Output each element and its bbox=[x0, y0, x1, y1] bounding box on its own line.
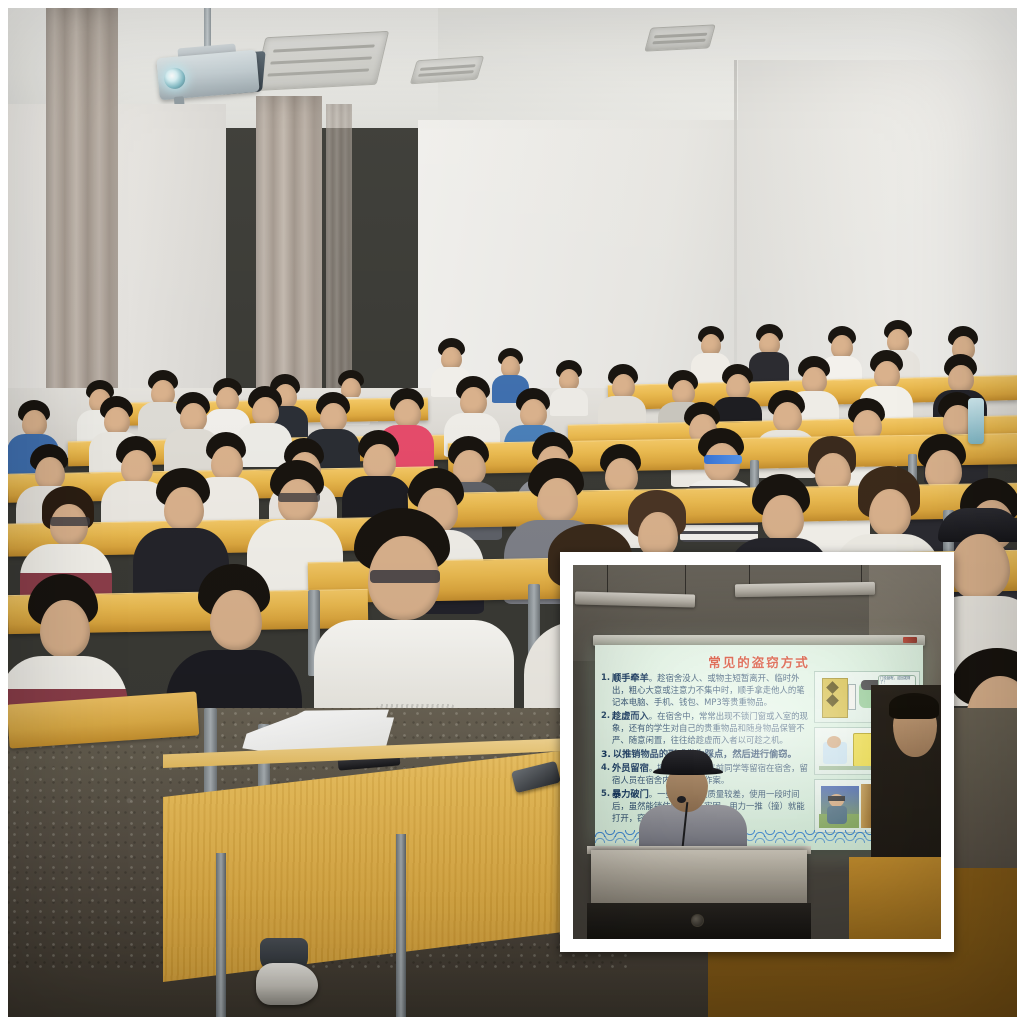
ceiling-projector bbox=[156, 50, 259, 101]
wall-right bbox=[738, 60, 1017, 400]
presenter-inset-photo: 常见的盗窃方式 1. 顺手牵羊。趁宿舍没人、或物主短暂离开、临时外出，粗心大意或… bbox=[560, 552, 954, 952]
inset-audience-hair bbox=[889, 693, 939, 719]
slide-item-heading: 顺手牵羊 bbox=[612, 673, 649, 684]
slide-list-item: 2. 趁虚而入。在宿舍中，常常出现不锁门窗或入室的现象，还有的学生对自己的贵重物… bbox=[601, 710, 809, 747]
slide-list-item: 1. 顺手牵羊。趁宿舍没人、或物主短暂离开、临时外出，粗心大意或注意力不集中时，… bbox=[601, 672, 809, 709]
microphone bbox=[677, 796, 686, 803]
brand-logo bbox=[903, 637, 917, 643]
slide-title: 常见的盗窃方式 bbox=[595, 652, 923, 671]
water-bottle bbox=[968, 398, 984, 444]
lectern bbox=[591, 850, 807, 906]
main-photograph: 常见的盗窃方式 1. 顺手牵羊。趁宿舍没人、或物主短暂离开、临时外出，粗心大意或… bbox=[8, 8, 1017, 1017]
lectern-knob bbox=[691, 914, 704, 927]
inset-wooden-desk bbox=[849, 857, 941, 939]
eyeglasses bbox=[370, 570, 440, 583]
inset-photo-content: 常见的盗窃方式 1. 顺手牵羊。趁宿舍没人、或物主短暂离开、临时外出，粗心大意或… bbox=[573, 565, 941, 939]
ceiling-air-vent bbox=[253, 31, 389, 91]
hanging-fluorescent-light bbox=[735, 582, 875, 597]
sneaker bbox=[256, 963, 318, 1005]
eyeglasses bbox=[278, 493, 320, 502]
ceiling-air-vent bbox=[644, 24, 716, 51]
wall-corner-edge bbox=[734, 60, 737, 390]
window-curtain bbox=[46, 8, 118, 428]
eyeglasses bbox=[50, 517, 90, 526]
desk-leg bbox=[396, 834, 406, 1017]
screenshot-root: 常见的盗窃方式 1. 顺手牵羊。趁宿舍没人、或物主短暂离开、临时外出，粗心大意或… bbox=[0, 0, 1025, 1025]
presenter-cap bbox=[661, 750, 713, 772]
eyeglasses bbox=[704, 455, 742, 464]
presenter bbox=[637, 750, 749, 860]
slide-item-heading: 趁虚而入 bbox=[612, 711, 649, 722]
desk-leg bbox=[216, 853, 226, 1017]
